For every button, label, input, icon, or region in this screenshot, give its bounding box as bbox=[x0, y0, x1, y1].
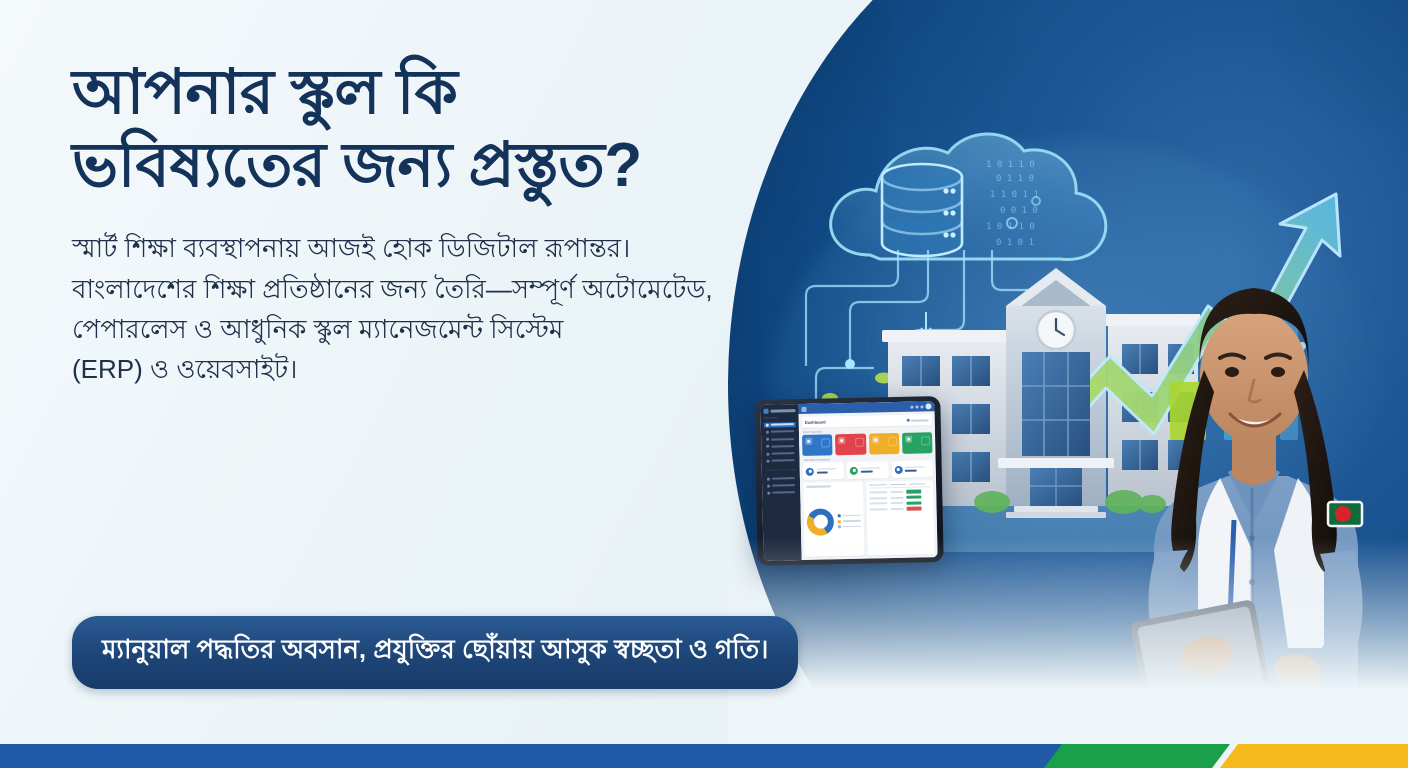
text-column: আপনার স্কুল কি ভবিষ্যতের জন্য প্রস্তুত? … bbox=[72, 56, 772, 390]
admission-icon bbox=[894, 465, 902, 473]
tablet-screen: Admin Panel bbox=[760, 401, 937, 561]
stat-card-row bbox=[799, 432, 935, 456]
info-card-row bbox=[800, 460, 936, 480]
status-badge bbox=[906, 507, 922, 511]
sidebar-item-students[interactable] bbox=[764, 429, 796, 434]
info-card-fee-due[interactable] bbox=[803, 462, 845, 480]
breadcrumb bbox=[906, 418, 929, 421]
table-row[interactable] bbox=[870, 504, 931, 511]
dashboard-main: Dashboard Quick Statistics bbox=[798, 401, 937, 560]
bangladesh-flag-patch-icon bbox=[1328, 502, 1362, 526]
library-icon bbox=[767, 484, 770, 487]
stat-card-present[interactable] bbox=[902, 432, 933, 454]
headline-line-2: ভবিষ্যতের জন্য প্রস্তুত? bbox=[72, 129, 772, 202]
bell-icon[interactable] bbox=[915, 405, 918, 408]
promo-banner: 1 0 1 1 0 0 1 1 0 1 1 0 1 1 0 0 1 0 1 0 … bbox=[0, 0, 1408, 768]
sidebar-item-accounts[interactable] bbox=[764, 451, 796, 456]
dashboard-icon bbox=[766, 423, 769, 426]
tagline-pill: ম্যানুয়াল পদ্ধতির অবসান, প্রযুক্তির ছোঁ… bbox=[72, 616, 798, 689]
svg-text:1 0 1 1 0: 1 0 1 1 0 bbox=[986, 160, 1035, 170]
sidebar-subtitle: Admin Panel bbox=[764, 417, 796, 420]
sidebar-divider bbox=[766, 469, 796, 471]
teachers-icon bbox=[838, 437, 845, 444]
info-card-absent[interactable] bbox=[847, 461, 889, 479]
reports-icon bbox=[767, 477, 770, 480]
search-icon[interactable] bbox=[910, 405, 913, 408]
fees-icon bbox=[872, 436, 879, 443]
sidebar-item-exams[interactable] bbox=[765, 458, 797, 463]
headline-line-1: আপনার স্কুল কি bbox=[72, 58, 457, 127]
legend-item-overdue bbox=[838, 525, 861, 528]
svg-text:1 1 0 1 1: 1 1 0 1 1 bbox=[990, 190, 1039, 200]
chart-card-title bbox=[806, 485, 831, 488]
status-badge bbox=[906, 490, 922, 494]
legend-item-paid bbox=[838, 514, 861, 517]
stripe-green bbox=[1044, 744, 1230, 768]
bottom-stripe-bar bbox=[0, 738, 1408, 768]
attendance-icon bbox=[766, 445, 769, 448]
stat-card-fees[interactable] bbox=[869, 433, 900, 455]
menu-toggle-icon[interactable] bbox=[801, 406, 806, 411]
subcopy-line-2: বাংলাদেশের শিক্ষা প্রতিষ্ঠানের জন্য তৈরি… bbox=[72, 269, 732, 309]
stripe-blue bbox=[0, 744, 1066, 768]
svg-text:0 1 0 1: 0 1 0 1 bbox=[996, 238, 1034, 248]
accounts-icon bbox=[766, 452, 769, 455]
subcopy: স্মার্ট শিক্ষা ব্যবস্থাপনায় আজই হোক ডিজ… bbox=[72, 228, 732, 389]
exams-icon bbox=[767, 459, 770, 462]
page-title: Dashboard bbox=[805, 419, 826, 424]
legend-item-pending bbox=[838, 519, 861, 522]
sidebar-item-library[interactable] bbox=[765, 483, 797, 488]
page-header: Dashboard bbox=[802, 414, 932, 428]
status-badge bbox=[906, 501, 922, 505]
stat-card-teachers[interactable] bbox=[835, 434, 866, 456]
teachers-icon bbox=[766, 438, 769, 441]
dashboard-topbar bbox=[798, 401, 934, 414]
wallet-icon bbox=[806, 467, 814, 475]
sidebar-item-settings[interactable] bbox=[765, 490, 797, 495]
info-card-admissions[interactable] bbox=[891, 460, 933, 478]
students-icon bbox=[766, 431, 769, 434]
brand-logo-icon bbox=[763, 409, 768, 414]
students-icon bbox=[805, 437, 812, 444]
message-icon[interactable] bbox=[920, 405, 923, 408]
blob-bottom-fade bbox=[728, 538, 1408, 768]
sidebar-item-reports[interactable] bbox=[765, 476, 797, 481]
page-title: আপনার স্কুল কি ভবিষ্যতের জন্য প্রস্তুত? bbox=[72, 56, 772, 202]
sidebar-item-dashboard[interactable] bbox=[764, 422, 796, 427]
subcopy-line-4: (ERP) ও ওয়েবসাইট। bbox=[72, 349, 732, 389]
subcopy-line-1: স্মার্ট শিক্ষা ব্যবস্থাপনায় আজই হোক ডিজ… bbox=[72, 228, 732, 268]
svg-text:0 1 1 0: 0 1 1 0 bbox=[996, 174, 1034, 184]
present-icon bbox=[905, 435, 912, 442]
sidebar-item-attendance[interactable] bbox=[764, 444, 796, 449]
sidebar-nav bbox=[764, 422, 798, 495]
sidebar-item-teachers[interactable] bbox=[764, 436, 796, 441]
donut-chart bbox=[807, 508, 835, 536]
sidebar-brand bbox=[763, 408, 795, 414]
donut-legend bbox=[838, 514, 861, 529]
stat-card-students[interactable] bbox=[802, 434, 833, 456]
svg-text:0 0 1 0: 0 0 1 0 bbox=[1000, 206, 1038, 216]
brand-name-placeholder bbox=[770, 409, 795, 413]
stripe-yellow bbox=[1220, 744, 1408, 768]
gear-icon bbox=[767, 492, 770, 495]
home-icon bbox=[906, 419, 909, 422]
avatar[interactable] bbox=[925, 403, 931, 409]
absent-icon bbox=[850, 466, 858, 474]
subcopy-line-3: পেপারলেস ও আধুনিক স্কুল ম্যানেজমেন্ট সিস… bbox=[72, 309, 732, 349]
